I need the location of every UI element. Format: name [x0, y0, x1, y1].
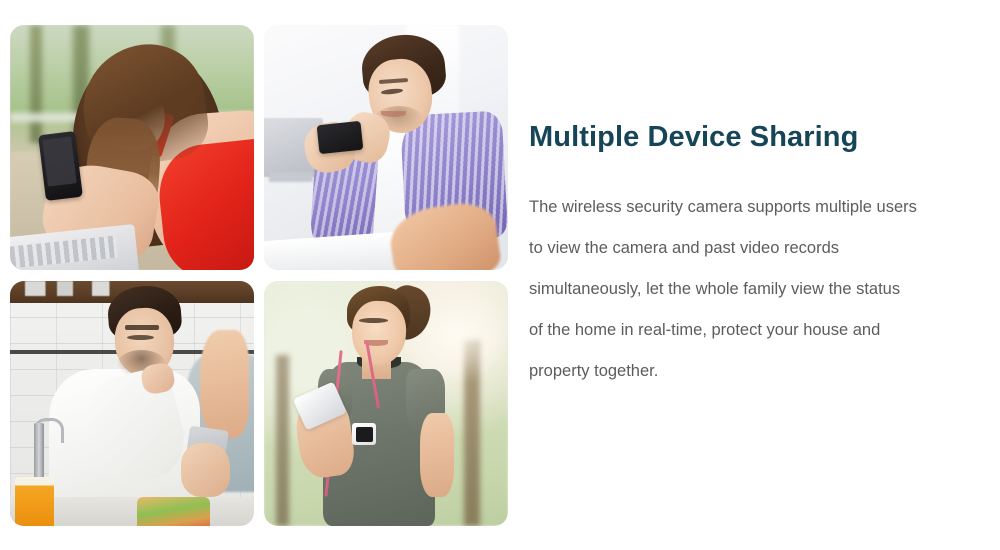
multiple-device-sharing-photo-grid [10, 25, 502, 528]
photo-man-purple-shirt-phone [264, 25, 508, 270]
description-line: The wireless security camera supports mu… [529, 187, 984, 228]
photo-man-kitchen-phone [10, 281, 254, 526]
product-feature-banner: Multiple Device Sharing The wireless sec… [0, 0, 1000, 550]
description-line: property together. [529, 351, 984, 392]
feature-description: The wireless security camera supports mu… [529, 187, 984, 392]
feature-text-column: Multiple Device Sharing The wireless sec… [529, 118, 984, 392]
description-line: of the home in real-time, protect your h… [529, 310, 984, 351]
photo-woman-park-earphones-phone [264, 281, 508, 526]
feature-headline: Multiple Device Sharing [529, 118, 984, 156]
photo-woman-red-top-phone [10, 25, 254, 270]
description-line: to view the camera and past video record… [529, 228, 984, 269]
description-line: simultaneously, let the whole family vie… [529, 269, 984, 310]
